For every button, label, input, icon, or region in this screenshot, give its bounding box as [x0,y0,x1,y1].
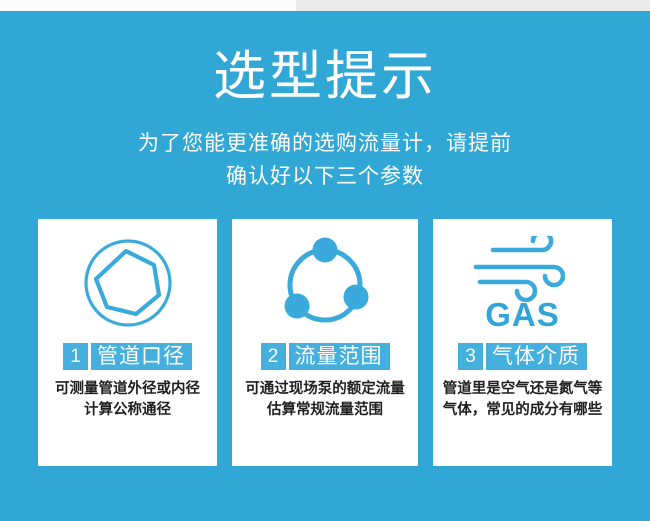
top-strip-right-segment [296,0,650,11]
pipe-diameter-icon [38,219,217,339]
card-title: 流量范围 [289,343,390,370]
card-description-line-2: 估算常规流量范围 [245,400,405,421]
card-description: 管道里是空气还是氮气等 气体，常见的成分有哪些 [443,379,603,421]
gas-medium-icon: GAS [433,219,612,339]
card-list: 1 管道口径 可测量管道外径或内径 计算公称通径 2 [38,219,612,466]
card-pipe-diameter: 1 管道口径 可测量管道外径或内径 计算公称通径 [38,219,217,466]
card-badge: 2 流量范围 [261,343,390,370]
card-gas-medium: GAS 3 气体介质 管道里是空气还是氮气等 气体，常见的成分有哪些 [433,219,612,466]
card-description-line-2: 计算公称通径 [55,400,200,421]
card-badge: 1 管道口径 [63,343,192,370]
top-strip [0,0,650,11]
card-description-line-1: 可通过现场泵的额定流量 [245,379,405,400]
card-description-line-1: 可测量管道外径或内径 [55,379,200,400]
card-badge: 3 气体介质 [458,343,587,370]
page-subtitle: 为了您能更准确的选购流量计，请提前 确认好以下三个参数 [0,127,650,193]
card-description-line-1: 管道里是空气还是氮气等 [443,379,603,400]
card-flow-range: 2 流量范围 可通过现场泵的额定流量 估算常规流量范围 [232,219,418,466]
card-description-line-2: 气体，常见的成分有哪些 [443,400,603,421]
card-number: 2 [261,343,286,370]
card-number: 1 [63,343,88,370]
subtitle-line-1: 为了您能更准确的选购流量计，请提前 [0,127,650,160]
promo-banner: 选型提示 为了您能更准确的选购流量计，请提前 确认好以下三个参数 1 管道口径 … [0,0,650,521]
flow-range-icon [232,219,418,339]
card-number: 3 [458,343,483,370]
card-description: 可通过现场泵的额定流量 估算常规流量范围 [245,379,405,421]
gas-text-label: GAS [485,298,560,331]
top-strip-left-segment [0,0,296,11]
card-title: 管道口径 [91,343,192,370]
subtitle-line-2: 确认好以下三个参数 [0,160,650,193]
card-title: 气体介质 [486,343,587,370]
page-title: 选型提示 [0,46,650,108]
card-description: 可测量管道外径或内径 计算公称通径 [55,379,200,421]
